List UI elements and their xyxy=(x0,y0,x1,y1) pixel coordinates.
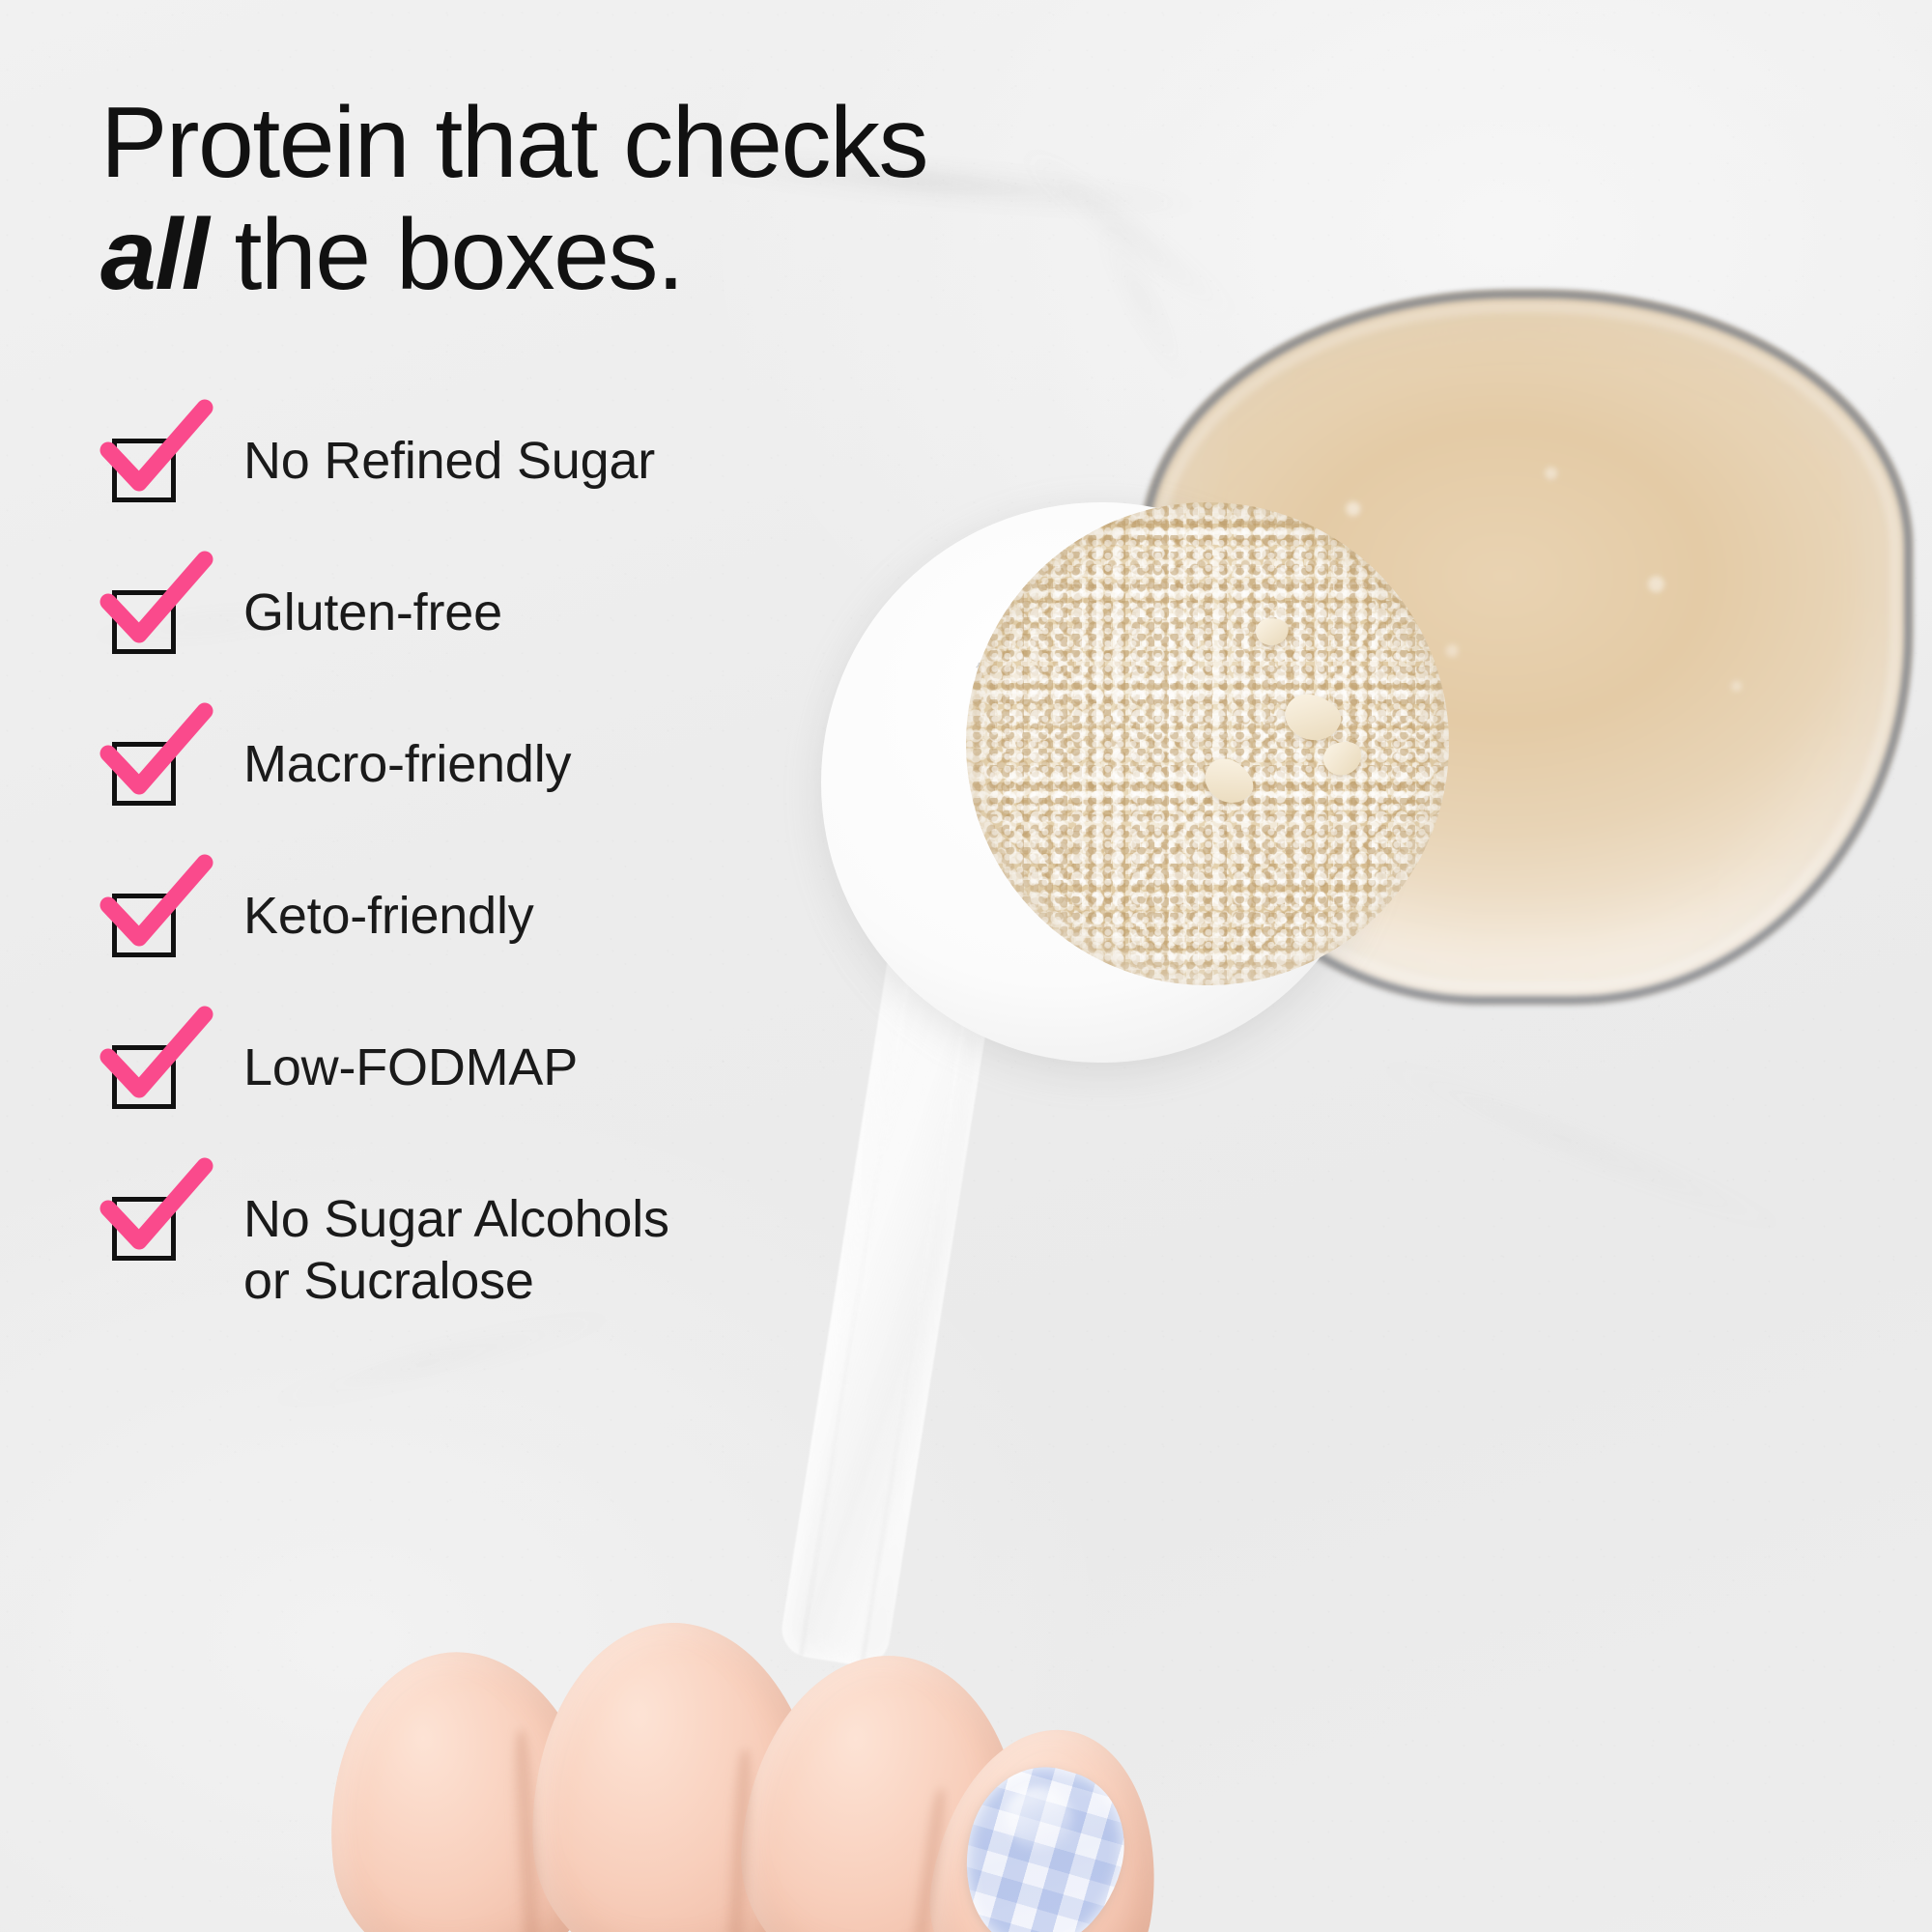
check-mark-icon xyxy=(97,857,213,973)
checklist-item-5: No Sugar Alcohols or Sucralose xyxy=(100,1183,951,1335)
checklist-item-label-line1: Low-FODMAP xyxy=(243,1038,578,1096)
check-mark-icon xyxy=(97,705,213,821)
nail-highlight xyxy=(998,1778,1080,1857)
powder-chunk xyxy=(1197,751,1261,811)
powder-chunk xyxy=(1254,616,1291,647)
checklist-item-label-line1: No Refined Sugar xyxy=(243,432,655,490)
page-title: Protein that checks all the boxes. xyxy=(100,87,951,312)
headline-emphasis: all xyxy=(100,199,208,311)
check-mark-icon xyxy=(97,1160,213,1276)
checklist-item-label: Low-FODMAP xyxy=(243,1032,578,1099)
checklist-item-label: Gluten-free xyxy=(243,577,502,644)
headline-line-1: Protein that checks xyxy=(100,87,927,199)
text-content: Protein that checks all the boxes. No Re… xyxy=(0,0,966,1932)
checklist-item-4: Low-FODMAP xyxy=(100,1032,951,1183)
check-mark-icon xyxy=(97,554,213,669)
benefits-checklist: No Refined Sugar Gluten-free Macro-frien… xyxy=(100,425,951,1335)
headline-line-2-rest: the boxes. xyxy=(208,199,683,311)
powder-chunk xyxy=(1280,690,1345,747)
marketing-graphic: 1/2 TBSP Protein that checks all the box… xyxy=(0,0,1932,1932)
checklist-item-0: No Refined Sugar xyxy=(100,425,951,577)
checklist-item-label: No Refined Sugar xyxy=(243,425,655,493)
protein-powder xyxy=(966,502,1449,985)
checkbox-1[interactable] xyxy=(100,581,193,660)
checklist-item-2: Macro-friendly xyxy=(100,728,951,880)
checklist-item-label: Keto-friendly xyxy=(243,880,534,948)
checkbox-4[interactable] xyxy=(100,1036,193,1115)
checklist-item-label: Macro-friendly xyxy=(243,728,571,796)
checkbox-3[interactable] xyxy=(100,884,193,963)
checklist-item-label-line1: Macro-friendly xyxy=(243,735,571,793)
checklist-item-label: No Sugar Alcohols or Sucralose xyxy=(243,1183,669,1312)
check-mark-icon xyxy=(97,1009,213,1124)
checklist-item-label-line2: or Sucralose xyxy=(243,1251,669,1313)
checkbox-0[interactable] xyxy=(100,429,193,508)
checkbox-2[interactable] xyxy=(100,732,193,811)
powder-chunk xyxy=(1319,736,1367,781)
checklist-item-1: Gluten-free xyxy=(100,577,951,728)
checklist-item-3: Keto-friendly xyxy=(100,880,951,1032)
checklist-item-label-line1: Keto-friendly xyxy=(243,887,534,945)
checklist-item-label-line1: Gluten-free xyxy=(243,583,502,641)
check-mark-icon xyxy=(97,402,213,518)
checklist-item-label-line1: No Sugar Alcohols xyxy=(243,1190,669,1248)
checkbox-5[interactable] xyxy=(100,1187,193,1266)
